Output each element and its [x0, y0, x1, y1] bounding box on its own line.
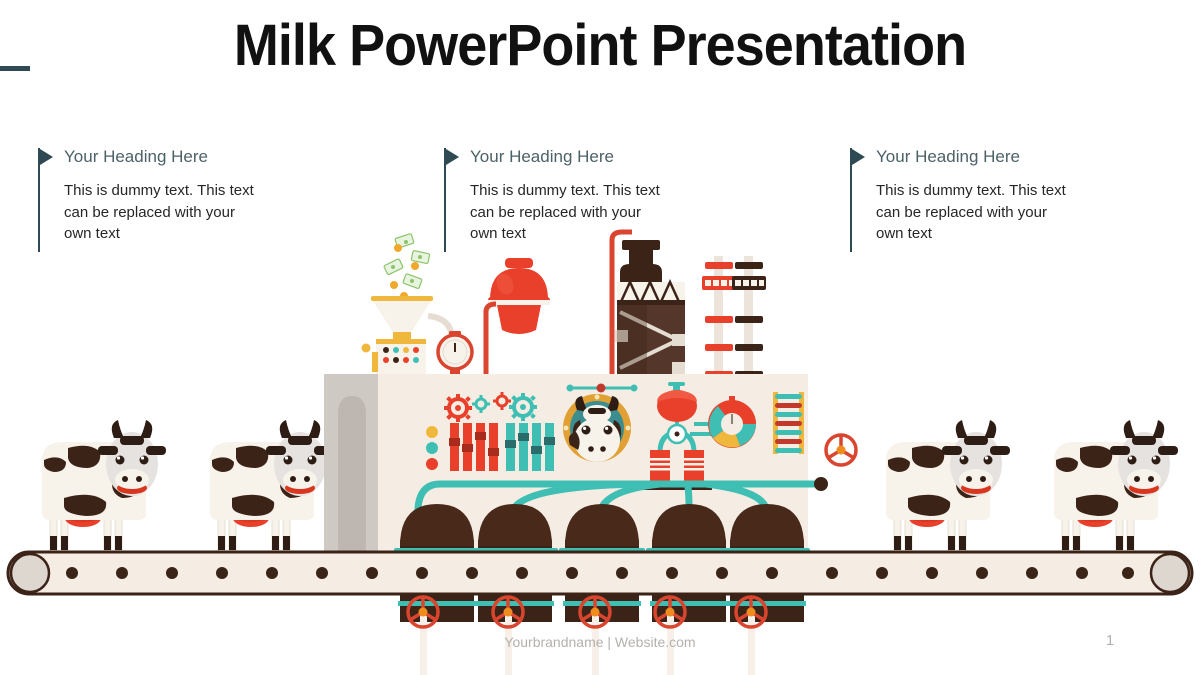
heading-title: Your Heading Here [876, 146, 1100, 168]
heading-body: This is dummy text. This text can be rep… [876, 180, 1068, 245]
dairy-cow [886, 420, 1010, 550]
column-red [702, 256, 736, 380]
heading-title: Your Heading Here [470, 146, 694, 168]
slide-root: Milk PowerPoint Presentation [0, 0, 1200, 675]
flag-triangle-icon [40, 149, 53, 165]
valve-wheel [826, 435, 856, 465]
dairy-cow [1054, 420, 1178, 550]
heading-block-3: Your Heading Here This is dummy text. Th… [850, 146, 1100, 245]
zigzag-silo [612, 232, 685, 380]
dome-lamp [486, 258, 550, 378]
footer-brand: Yourbrandname | Website.com [0, 634, 1200, 650]
dairy-cow [42, 420, 166, 550]
pressure-gauge [438, 331, 472, 378]
heading-body: This is dummy text. This text can be rep… [64, 180, 256, 245]
heading-block-2: Your Heading Here This is dummy text. Th… [444, 146, 694, 245]
heading-block-1: Your Heading Here This is dummy text. Th… [38, 146, 288, 245]
pipe-end-cap [814, 477, 828, 491]
heading-title: Your Heading Here [64, 146, 288, 168]
conveyor-belt [8, 552, 1192, 594]
flag-triangle-icon [446, 149, 459, 165]
flag-triangle-icon [852, 149, 865, 165]
dairy-cow [210, 420, 334, 550]
column-dark [732, 256, 766, 380]
milk-factory-illustration [0, 0, 1200, 675]
heading-body: This is dummy text. This text can be rep… [470, 180, 662, 245]
page-number: 1 [1090, 632, 1130, 649]
indicator-lights [426, 426, 438, 470]
